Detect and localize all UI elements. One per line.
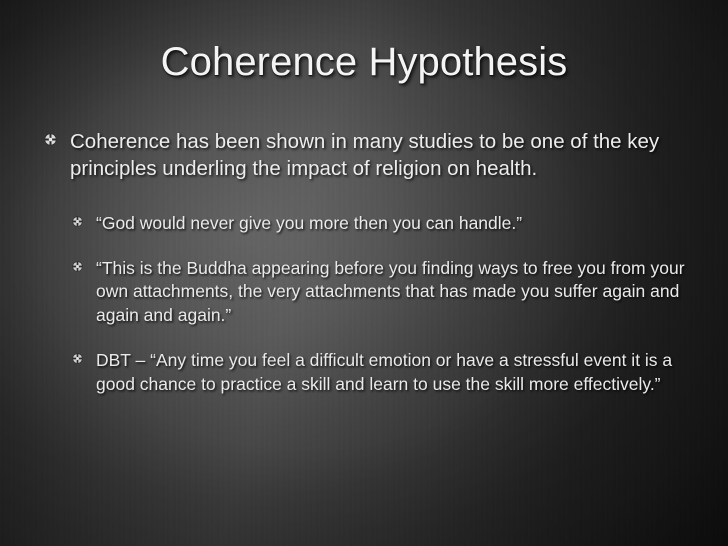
bullet-text: Coherence has been shown in many studies… (70, 128, 704, 182)
flower-wheel-bullet-icon (72, 212, 96, 227)
bullet-text: “God would never give you more then you … (96, 212, 704, 236)
flower-wheel-bullet-icon (72, 349, 96, 364)
bullet-text: “This is the Buddha appearing before you… (96, 257, 704, 328)
page-title: Coherence Hypothesis (0, 38, 728, 86)
spacer (44, 336, 704, 349)
spacer (44, 245, 704, 257)
bullet-item-3: “This is the Buddha appearing before you… (72, 257, 704, 328)
presentation-slide: Coherence Hypothesis Coherence has been … (0, 0, 728, 546)
flower-wheel-bullet-icon (44, 128, 70, 146)
slide-content: Coherence Hypothesis Coherence has been … (0, 0, 728, 546)
bullet-text: DBT – “Any time you feel a difficult emo… (96, 349, 704, 396)
bullet-list: Coherence has been shown in many studies… (44, 128, 704, 405)
bullet-item-1: Coherence has been shown in many studies… (44, 128, 704, 182)
bullet-item-2: “God would never give you more then you … (72, 212, 704, 236)
flower-wheel-bullet-icon (72, 257, 96, 272)
bullet-item-4: DBT – “Any time you feel a difficult emo… (72, 349, 704, 396)
spacer (44, 196, 704, 212)
